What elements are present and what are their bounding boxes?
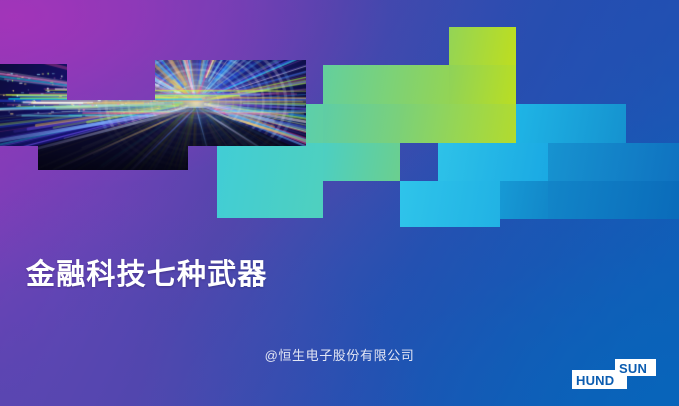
photo-tile-middle-band [0,100,306,146]
hundsun-logo: SUN HUND [572,359,656,389]
mosaic-block-cyan-low [400,181,500,227]
mosaic-block-sky-low-2 [548,181,679,219]
motion-blur-tunnel-photo [0,40,306,170]
slide-title: 金融科技七种武器 [26,251,268,293]
photo-artwork [38,146,188,170]
mosaic-block-green-1 [323,65,449,104]
mosaic-block-sky-1 [516,104,626,143]
photo-tile-bottom-step [38,146,188,170]
photo-artwork [155,60,306,100]
mosaic-block-sky-2 [548,143,679,181]
mosaic-block-green-3 [400,104,516,143]
mosaic-block-lime-2 [449,65,516,104]
presentation-slide: 金融科技七种武器 @恒生电子股份有限公司 SUN HUND [0,0,679,406]
mosaic-block-sky-low [500,181,548,219]
logo-word-sun: SUN [619,362,647,375]
photo-tile-top-right [155,60,306,100]
photo-artwork [0,100,306,146]
mosaic-block-cyan-right [438,143,548,182]
photo-tile-top-left [0,64,67,100]
mosaic-block-lime-top [449,27,516,65]
logo-word-hund: HUND [576,374,614,387]
photo-artwork [0,64,67,100]
mosaic-block-teal-mid [323,143,400,181]
